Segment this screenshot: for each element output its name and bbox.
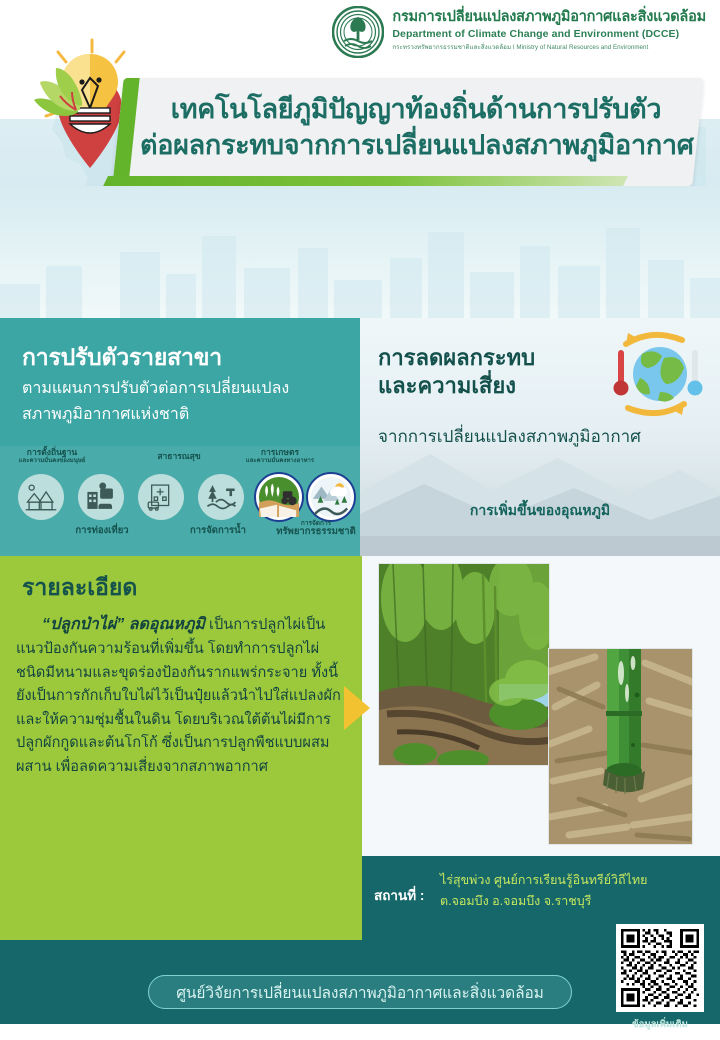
mitigation-heading: การลดผลกระทบ และความเสี่ยง: [378, 344, 608, 400]
mitigation-panel: การลดผลกระทบ และความเสี่ยง จากการเปลี่ยน…: [360, 318, 720, 556]
title-line-1: เทคโนโลยีภูมิปัญญาท้องถิ่นด้านการปรับตัว: [140, 92, 692, 128]
dcce-logo: กรมการเปลี่ยนแปลงสภาพภูมิอากาศและสิ่งแวด…: [332, 6, 706, 58]
qr-code[interactable]: [616, 924, 704, 1012]
agriculture-icon: [258, 476, 300, 518]
technology-name-band: ชื่อเทคโนโลยี : “ปลูกป่าไผ่” ลดอุณหภูมิ: [0, 186, 720, 318]
bamboo-grove-photo: [378, 563, 550, 766]
poster-root: กรมการเปลี่ยนแปลงสภาพภูมิอากาศและสิ่งแวด…: [0, 0, 720, 1040]
natural-resources-icon: [310, 476, 352, 518]
qr-section: ข้อมูลเพิ่มเติม: [616, 924, 704, 1032]
skyline-decoration: [0, 222, 720, 318]
details-panel: รายละเอียด “ปลูกป่าไผ่” ลดอุณหภูมิ เป็นก…: [0, 556, 362, 940]
mountain-backdrop-decoration: [360, 436, 720, 556]
details-heading: รายละเอียด: [22, 570, 137, 606]
bamboo-culm-photo: [548, 648, 693, 845]
location-line-1: ไร่สุขพ่วง ศูนย์การเรียนรู้อินทรีย์วิถีไ…: [440, 870, 712, 891]
details-body: “ปลูกป่าไผ่” ลดอุณหภูมิ เป็นการปลูกไผ่เป…: [16, 612, 348, 780]
poster-title: เทคโนโลยีภูมิปัญญาท้องถิ่นด้านการปรับตัว…: [140, 92, 692, 163]
bamboo-culm-image: [549, 649, 693, 845]
org-name-th: กรมการเปลี่ยนแปลงสภาพภูมิอากาศและสิ่งแวด…: [392, 10, 706, 26]
sector-label-tourism: การท่องเที่ยว: [58, 526, 146, 537]
tourism-icon: [84, 480, 118, 514]
mitigation-note: การเพิ่มขึ้นของอุณหภูมิ: [360, 500, 720, 522]
sector-icon-public-health[interactable]: [138, 474, 184, 520]
adaptation-heading: การปรับตัวรายสาขา: [22, 340, 222, 376]
adaptation-sub-line-1: ตามแผนการปรับตัวต่อการเปลี่ยนแปลง: [22, 376, 352, 402]
ministry-line: กระทรวงทรัพยากรธรรมชาติและสิ่งแวดล้อม I …: [392, 42, 706, 52]
water-management-icon: [204, 480, 238, 514]
location-line-2: ต.จอมบึง อ.จอมบึง จ.ราชบุรี: [440, 891, 712, 912]
qr-caption: ข้อมูลเพิ่มเติม: [616, 1017, 704, 1032]
location-value: ไร่สุขพ่วง ศูนย์การเรียนรู้อินทรีย์วิถีไ…: [440, 870, 712, 911]
sector-icon-natural-resources[interactable]: [306, 472, 356, 522]
sector-icon-strip: การตั้งถิ่นฐาน และความมั่นคงของมนุษย์ สา…: [0, 446, 360, 556]
title-line-2: ต่อผลกระทบจากการเปลี่ยนแปลงสภาพภูมิอากาศ: [140, 128, 692, 164]
settlement-icon: [24, 480, 58, 514]
mitigation-heading-line-2: และความเสี่ยง: [378, 372, 608, 400]
sector-icon-settlement[interactable]: [18, 474, 64, 520]
details-text: เป็นการปลูกไผ่เป็นแนวป้องกันความร้อนที่เ…: [16, 617, 341, 775]
sector-label-water-management: การจัดการน้ำ: [174, 526, 262, 537]
sector-label-settlement: การตั้งถิ่นฐาน และความมั่นคงของมนุษย์: [6, 448, 98, 465]
sector-icon-agriculture[interactable]: [254, 472, 304, 522]
public-health-icon: [144, 480, 178, 514]
footer-organization: ศูนย์วิจัยการเปลี่ยนแปลงสภาพภูมิอากาศและ…: [148, 975, 572, 1009]
location-label: สถานที่ :: [374, 884, 424, 906]
sector-label-natural-resources: การจัดการ ทรัพยากรธรรมชาติ: [272, 520, 360, 538]
org-name-en: Department of Climate Change and Environ…: [392, 28, 706, 40]
details-lead: “ปลูกป่าไผ่” ลดอุณหภูมิ: [42, 616, 205, 633]
qr-code-icon: [621, 929, 699, 1007]
mitigation-heading-line-1: การลดผลกระทบ: [378, 344, 608, 372]
dcce-emblem-icon: [332, 6, 384, 58]
sector-label-public-health: สาธารณสุข: [140, 452, 218, 462]
header-band: กรมการเปลี่ยนแปลงสภาพภูมิอากาศและสิ่งแวด…: [0, 0, 720, 205]
sector-label-agriculture: การเกษตร และความมั่นคงทางอาหาร: [232, 448, 328, 465]
mitigation-subheading: จากการเปลี่ยนแปลงสภาพภูมิอากาศ: [378, 426, 708, 448]
adaptation-sub-line-2: สภาพภูมิอากาศแห่งชาติ: [22, 402, 352, 428]
sector-icon-water-management[interactable]: [198, 474, 244, 520]
globe-thermometer-icon: [604, 328, 708, 420]
sector-icon-tourism[interactable]: [78, 474, 124, 520]
bamboo-grove-image: [379, 564, 550, 766]
adaptation-panel: การปรับตัวรายสาขา ตามแผนการปรับตัวต่อการ…: [0, 318, 360, 556]
yellow-arrow-icon: [344, 686, 370, 730]
adaptation-subheading: ตามแผนการปรับตัวต่อการเปลี่ยนแปลง สภาพภู…: [22, 376, 352, 428]
